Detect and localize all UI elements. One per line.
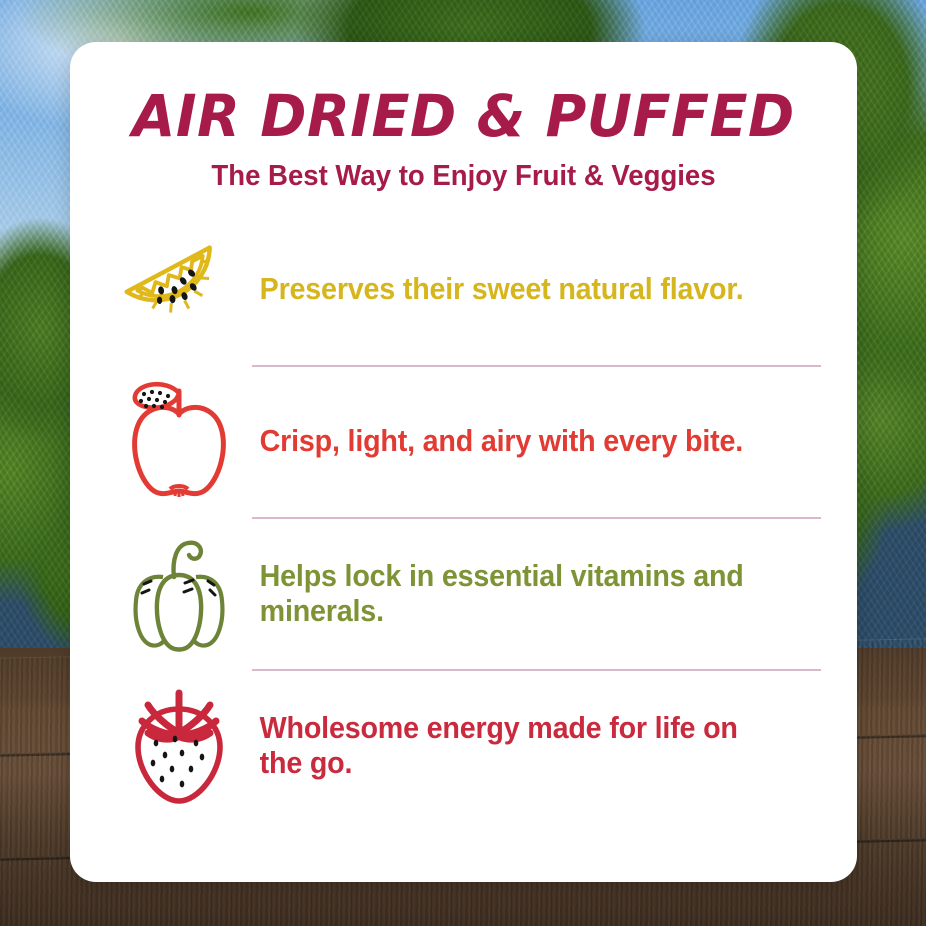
benefit-list: Preserves their sweet natural flavor.	[70, 215, 857, 821]
list-item: Preserves their sweet natural flavor.	[70, 215, 857, 365]
strawberry-icon	[104, 681, 254, 811]
page-title: AIR DRIED & PUFFED	[86, 42, 842, 145]
info-card: AIR DRIED & PUFFED The Best Way to Enjoy…	[70, 42, 857, 882]
watermelon-slice-icon	[104, 231, 254, 349]
list-item: Crisp, light, and airy with every bite.	[70, 367, 857, 517]
list-item: Wholesome energy made for life on the go…	[70, 671, 857, 821]
bell-pepper-icon	[104, 531, 254, 657]
list-item-label: Helps lock in essential vitamins and min…	[254, 559, 787, 630]
list-item-label: Crisp, light, and airy with every bite.	[254, 424, 787, 459]
page-subtitle: The Best Way to Enjoy Fruit & Veggies	[90, 145, 838, 193]
list-item: Helps lock in essential vitamins and min…	[70, 519, 857, 669]
list-item-label: Wholesome energy made for life on the go…	[254, 711, 787, 782]
apple-icon	[104, 381, 254, 503]
list-item-label: Preserves their sweet natural flavor.	[254, 272, 787, 307]
